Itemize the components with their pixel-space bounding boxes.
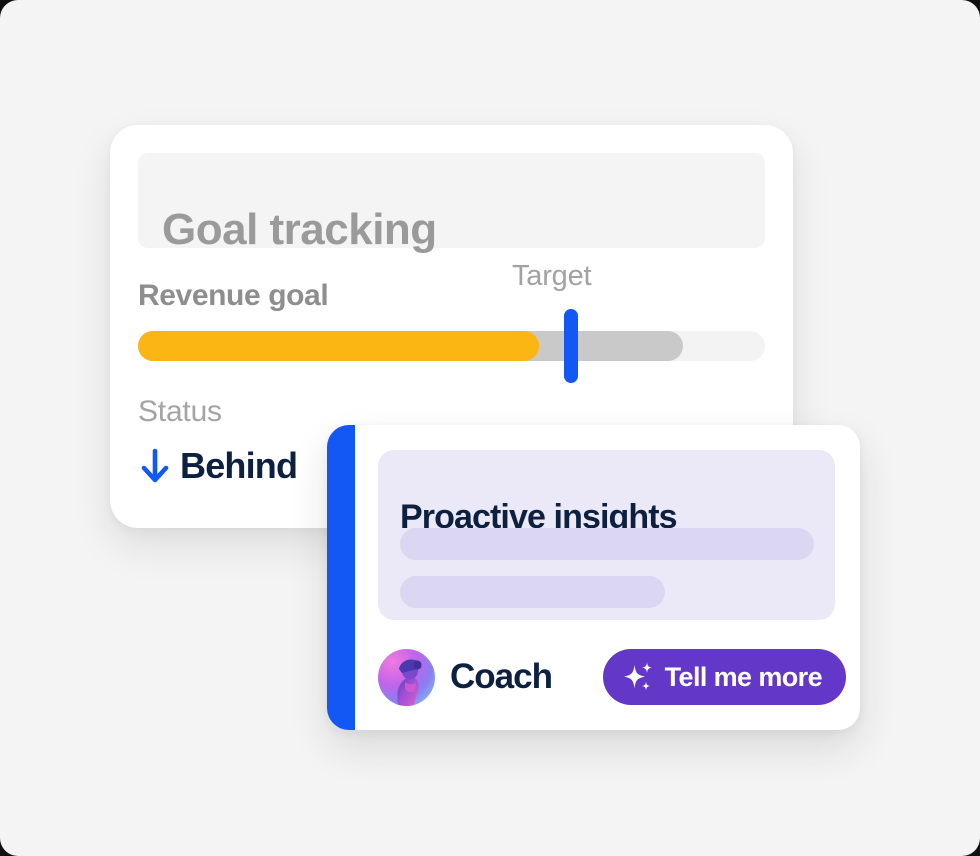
status-badge: Behind (138, 445, 297, 487)
insights-panel: Proactive insights (378, 450, 835, 620)
status-label: Status (138, 395, 222, 429)
progress-primary-fill (138, 331, 539, 361)
sparkle-icon (622, 660, 656, 694)
status-value: Behind (180, 445, 297, 487)
page-title: Goal tracking (162, 205, 437, 255)
tell-me-more-label: Tell me more (665, 662, 822, 693)
goal-card-header-block: Goal tracking (138, 153, 765, 248)
coach-name: Coach (450, 657, 552, 697)
insight-placeholder-line (400, 576, 665, 608)
target-marker[interactable] (564, 309, 578, 383)
avatar (378, 649, 435, 706)
accent-stripe (327, 425, 355, 730)
revenue-goal-label: Revenue goal (138, 279, 328, 313)
revenue-goal-progress-bar[interactable] (138, 331, 765, 361)
tell-me-more-button[interactable]: Tell me more (603, 649, 846, 705)
arrow-down-icon (138, 447, 172, 485)
proactive-insights-card: Proactive insights (327, 425, 860, 730)
insight-placeholder-line (400, 528, 814, 560)
screenshot-stage: Goal tracking Revenue goal Target Status… (0, 0, 980, 856)
insights-footer: Coach Tell me more (378, 647, 846, 707)
target-label: Target (512, 260, 591, 293)
